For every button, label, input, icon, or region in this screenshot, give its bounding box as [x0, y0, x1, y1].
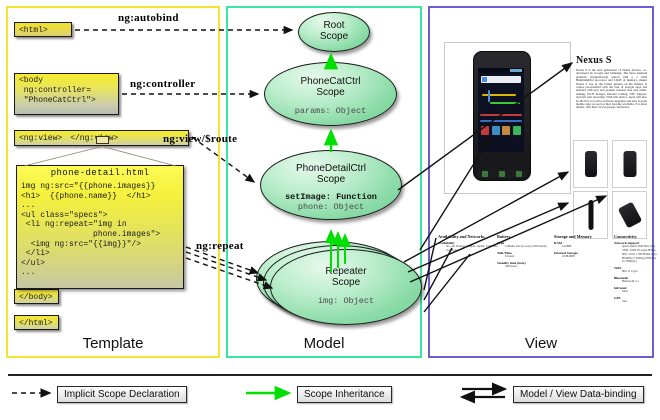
code-box-body-open: <body ng:controller= "PhoneCatCtrl">	[14, 73, 119, 115]
legend-item-data-binding: Model / View Data-binding	[513, 386, 644, 403]
edge-label-ng-autobind: ng:autobind	[118, 12, 179, 24]
scope-phonedetailctrl-title-1: PhoneDetailCtrl	[261, 163, 401, 174]
spec-values-availability: 3G, 4G Orange, Singtel, Sprint, T-Mobile…	[446, 245, 500, 253]
spec-value-battery-standby: 428 hours	[505, 265, 559, 269]
edge-label-ng-repeat: ng:repeat	[196, 240, 244, 252]
spec-value-infrared: false	[622, 290, 658, 294]
partial-note-code: img ng:src="{{phone.images}} <h1> {{phon…	[21, 182, 180, 278]
phone-map-line-2	[488, 90, 490, 102]
scope-repeater-title-1: Repeater	[271, 266, 421, 277]
partial-note-phone-detail: phone-detail.html img ng:src="{{phone.im…	[16, 165, 184, 289]
panel-template-label: Template	[8, 335, 218, 352]
phone-urlbar	[481, 76, 521, 83]
spec-column-availability: Availability and Networks Availability 3…	[438, 234, 500, 253]
spec-value-ram: 512MB	[562, 245, 616, 249]
view-thumbnail-4[interactable]	[612, 191, 647, 239]
phone-screen	[478, 68, 524, 152]
scope-root-title-1: Root	[299, 20, 369, 31]
diagram-canvas: Template Model View <html> <body ng:cont…	[0, 0, 660, 420]
thumbnail-phone-4	[617, 202, 641, 229]
code-box-html-open: <html>	[14, 22, 72, 37]
scope-phonedetailctrl: PhoneDetailCtrl Scope setImage: Function…	[260, 150, 402, 220]
spec-heading-storage: Storage and Memory	[554, 234, 616, 239]
spec-heading-availability: Availability and Networks	[438, 234, 500, 239]
spec-column-storage: Storage and Memory RAM 512MB Internal St…	[554, 234, 616, 259]
phone-map-line-3	[490, 102, 520, 104]
phone-device-illustration	[473, 51, 531, 181]
partial-note-title: phone-detail.html	[17, 168, 183, 178]
thumbnail-phone-3	[588, 200, 593, 230]
product-title: Nexus S	[576, 55, 612, 66]
scope-phonedetailctrl-title-2: Scope	[261, 174, 401, 185]
spec-value-wifi: 802.11 b/g/n	[622, 270, 658, 274]
spec-value-gps: true	[622, 300, 658, 304]
panel-model-label: Model	[228, 335, 420, 352]
spec-value-battery-talk: 6 hours	[505, 255, 559, 259]
scope-phonecatctrl-title-2: Scope	[265, 87, 396, 98]
phone-navbar	[477, 169, 527, 178]
phone-map-line-4	[480, 114, 522, 116]
product-description: Nexus S is the next generation of Nexus …	[576, 69, 647, 110]
legend-item-scope-inheritance: Scope Inheritance	[297, 386, 392, 403]
thumbnail-phone-1	[585, 151, 597, 177]
legend-divider	[8, 374, 652, 376]
scope-phonecatctrl: PhoneCatCtrl Scope params: Object	[264, 62, 397, 126]
scope-phonedetailctrl-prop-setimage: setImage: Function	[261, 192, 401, 202]
scope-root: Root Scope	[298, 12, 370, 52]
legend-item-implicit-scope: Implicit Scope Declaration	[57, 386, 187, 403]
spec-heading-connectivity: Connectivity	[614, 234, 658, 239]
view-thumbnail-2[interactable]	[612, 140, 647, 188]
spec-value-battery-type: Lithium Ion (Li-ion) (1500 mAh)	[505, 245, 559, 249]
spec-column-connectivity: Connectivity Network Support Quad-band G…	[614, 234, 658, 304]
spec-value-internal: 16384MB	[562, 255, 616, 259]
edge-label-ng-controller: ng:controller	[130, 78, 195, 90]
view-thumbnail-3[interactable]	[573, 191, 608, 239]
spec-heading-battery: Battery	[497, 234, 559, 239]
view-thumbnail-1[interactable]	[573, 140, 608, 188]
code-box-body-close: </body>	[14, 289, 59, 304]
ngview-slot-icon	[96, 136, 109, 144]
scope-repeater-title-2: Scope	[271, 277, 421, 288]
scope-root-title-2: Scope	[299, 31, 369, 42]
scope-repeater-prop-img: img: Object	[271, 296, 421, 306]
scope-phonecatctrl-prop-params: params: Object	[265, 106, 396, 116]
scope-repeater: Repeater Scope img: Object	[270, 249, 422, 325]
code-box-html-close: </html>	[14, 315, 59, 330]
spec-value-network: Quad-band GSM 850, 900, 1800, 1900 Tri-b…	[622, 245, 658, 264]
spec-value-bluetooth: Bluetooth 2.1	[622, 280, 658, 284]
scope-phonedetailctrl-prop-phone: phone: Object	[261, 202, 401, 212]
thumbnail-phone-2	[623, 151, 636, 177]
edge-label-ng-view-route: ng:view/$route	[163, 133, 237, 145]
scope-phonecatctrl-title-1: PhoneCatCtrl	[265, 76, 396, 87]
phone-statusbar	[478, 68, 524, 73]
phone-map-line-5	[480, 120, 522, 122]
panel-view-label: View	[430, 335, 652, 352]
spec-column-battery: Battery Type Lithium Ion (Li-ion) (1500 …	[497, 234, 559, 269]
phone-app-icons	[480, 126, 522, 138]
phone-hero-image-frame	[444, 42, 571, 194]
